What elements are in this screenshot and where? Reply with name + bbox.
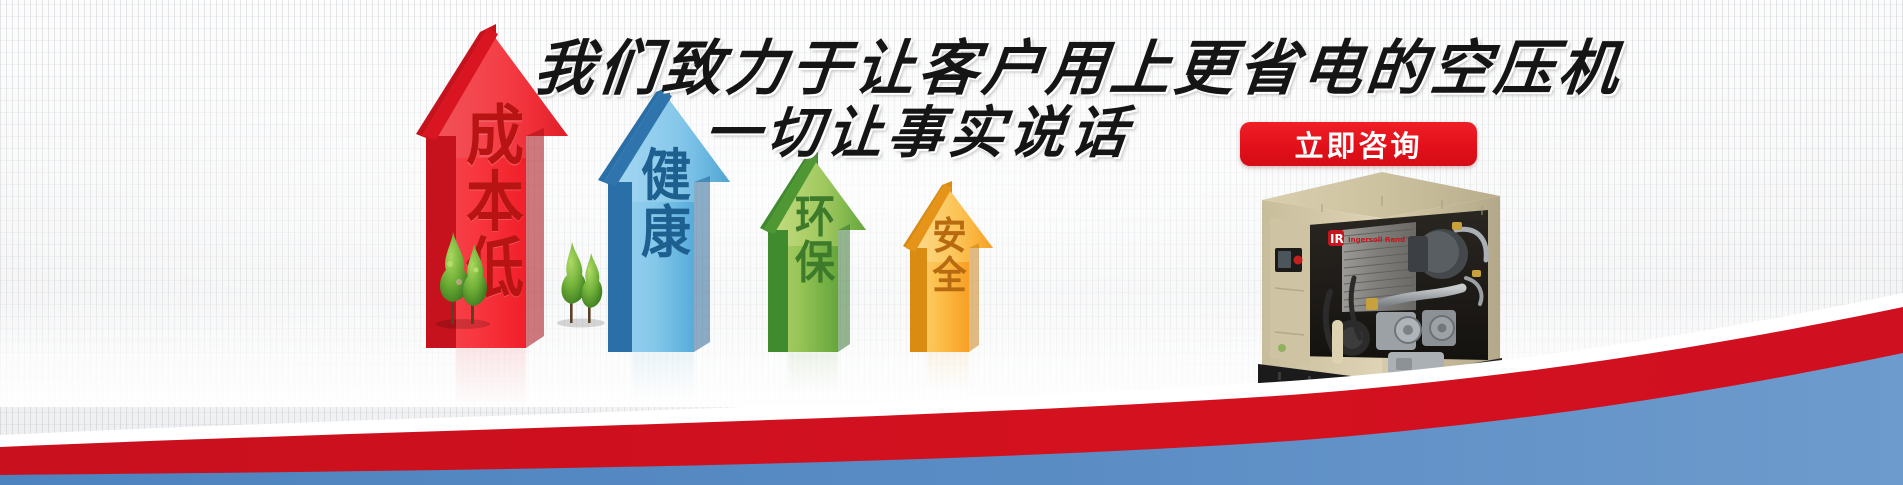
consult-now-label: 立即咨询 (1294, 123, 1422, 165)
svg-text:Ingersoll Rand: Ingersoll Rand (1348, 236, 1405, 244)
promo-banner: 成 本 低 健 康 (0, 0, 1903, 485)
headline-secondary: 一切让事实说话 (701, 88, 1137, 169)
bottom-wave-decoration (0, 285, 1903, 485)
svg-text:IR: IR (1330, 232, 1344, 246)
